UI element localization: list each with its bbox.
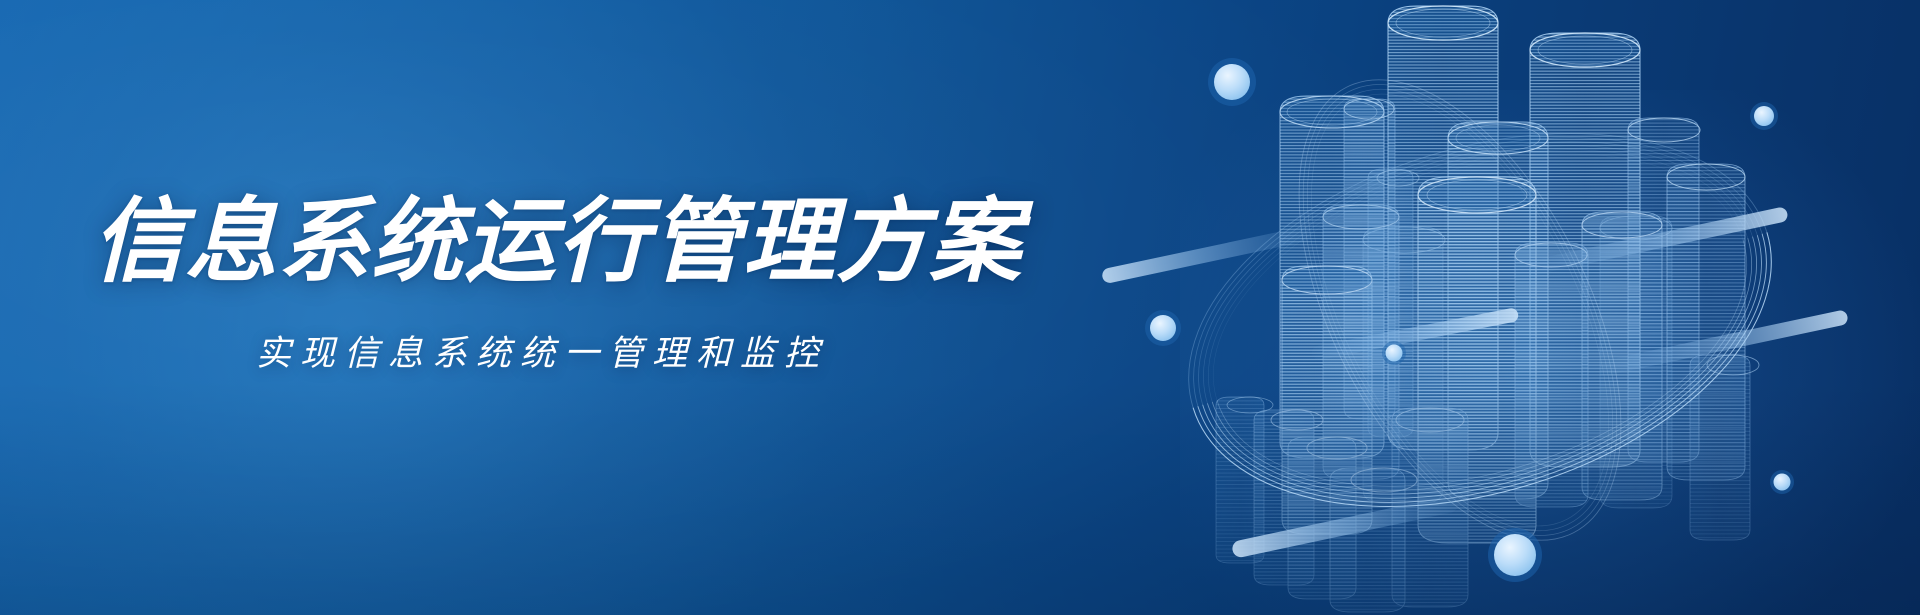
- glow-dot-bottom: [1488, 528, 1542, 582]
- banner-root: 信息系统运行管理方案 实现信息系统统一管理和监控: [0, 0, 1920, 615]
- banner-subtitle: 实现信息系统统一管理和监控: [92, 336, 992, 371]
- tower-n: [1690, 355, 1759, 540]
- banner-title: 信息系统运行管理方案: [92, 196, 1022, 288]
- glow-dot-right-upper: [1750, 102, 1778, 130]
- glow-dot-right-lower: [1770, 470, 1794, 494]
- wireframe-city-illustration: [1130, 0, 1830, 615]
- glow-dot-center-small: [1382, 341, 1406, 365]
- glow-dot-top-left: [1208, 58, 1256, 106]
- glow-dot-left-mid: [1145, 310, 1181, 346]
- banner-text-block: 信息系统运行管理方案 实现信息系统统一管理和监控: [0, 0, 1060, 615]
